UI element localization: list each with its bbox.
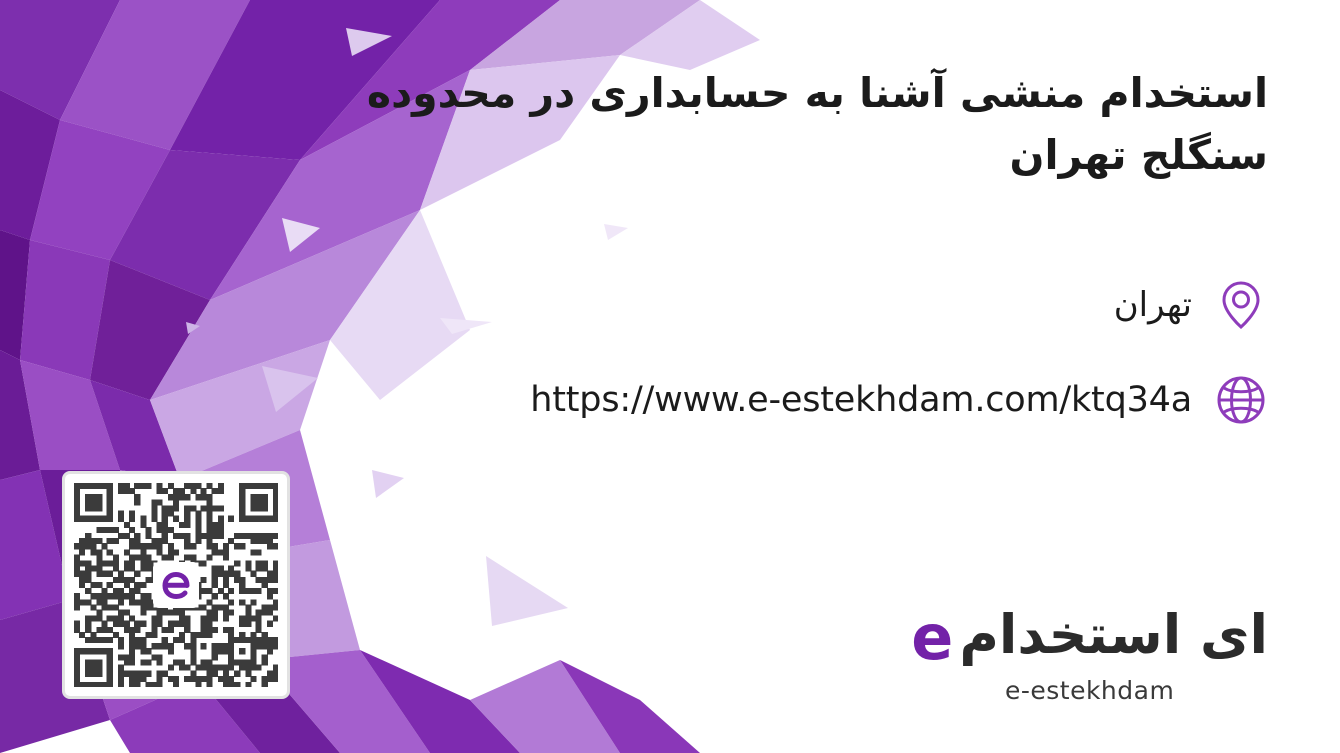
- brand-name-en: e-estekhdam: [911, 676, 1268, 705]
- brand-logo: ای استخدام e e-estekhdam: [911, 604, 1268, 705]
- qr-center-logo: [153, 562, 199, 608]
- qr-code[interactable]: [62, 471, 290, 699]
- job-ad-card: استخدام منشی آشنا به حسابداری در محدوده …: [0, 0, 1340, 753]
- brand-name-fa-wrap: ای استخدام e: [911, 604, 1268, 666]
- globe-icon: [1214, 373, 1268, 427]
- website-row[interactable]: https://www.e-estekhdam.com/ktq34a: [530, 373, 1268, 427]
- map-pin-icon: [1214, 278, 1268, 332]
- job-title: استخدام منشی آشنا به حسابداری در محدوده …: [348, 62, 1268, 187]
- website-url[interactable]: https://www.e-estekhdam.com/ktq34a: [530, 380, 1192, 420]
- location-row: تهران: [1114, 278, 1268, 332]
- brand-mark-e: e: [911, 607, 953, 669]
- location-text: تهران: [1114, 285, 1192, 325]
- brand-name-fa: ای استخدام: [959, 608, 1268, 662]
